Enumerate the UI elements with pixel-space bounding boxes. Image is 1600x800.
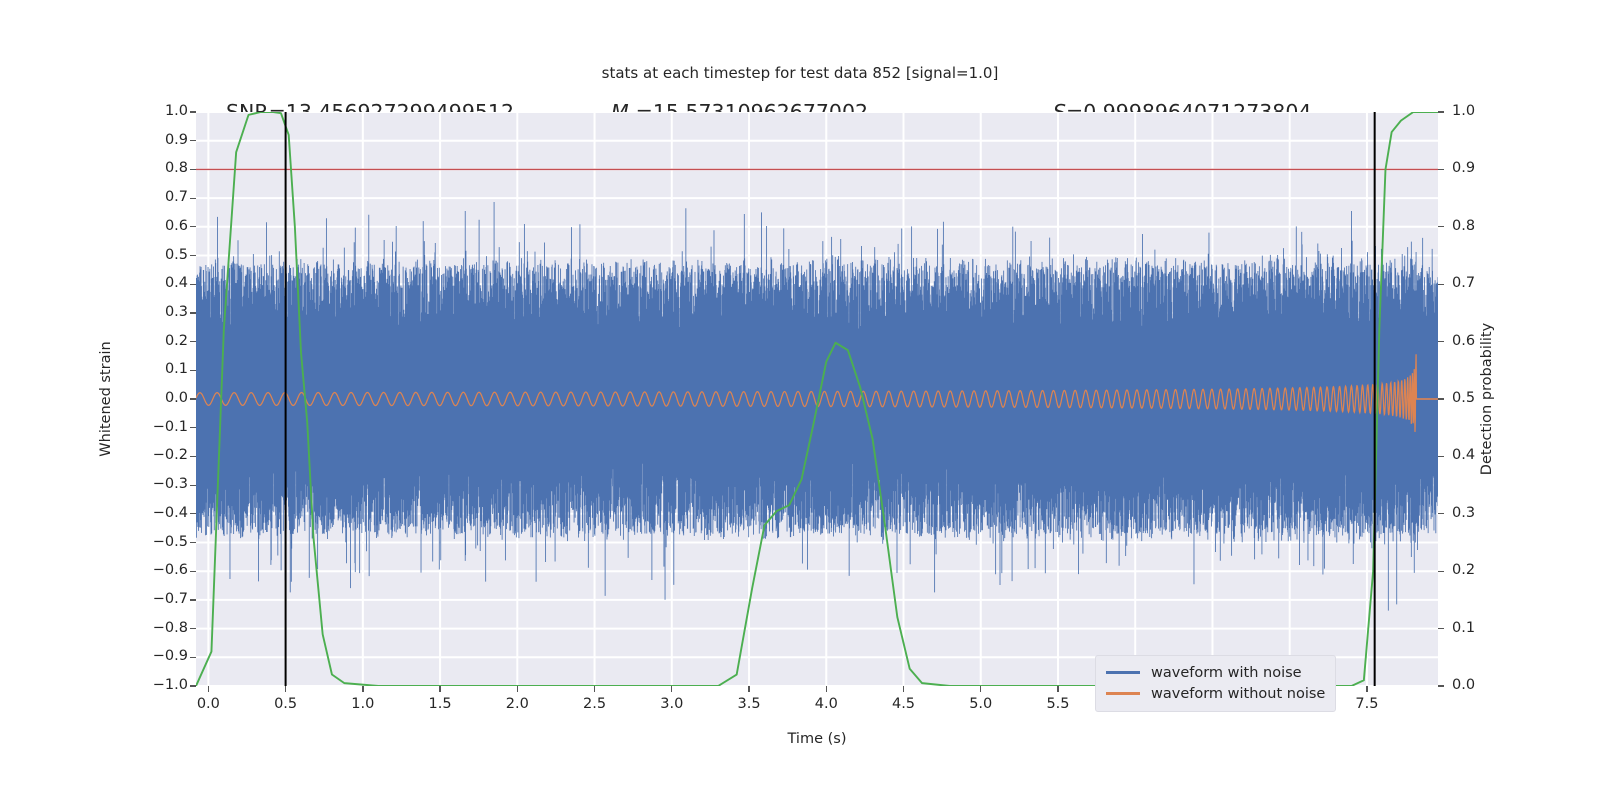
x-tick-5: 2.5 [565, 696, 625, 712]
y-tick-left-11: −0.1 [153, 419, 188, 435]
y-tick-left-9: 0.1 [165, 361, 188, 377]
legend-label-0: waveform with noise [1151, 665, 1302, 681]
y-tickmark-left-17 [190, 599, 196, 600]
x-tick-2: 1.0 [333, 696, 393, 712]
x-tick-11: 5.5 [1028, 696, 1088, 712]
x-tickmark-2 [362, 686, 363, 692]
x-tickmark-7 [748, 686, 749, 692]
y-tick-left-8: 0.2 [165, 333, 188, 349]
x-axis-label: Time (s) [788, 731, 847, 747]
x-tick-9: 4.5 [874, 696, 934, 712]
y-tick-left-0: 1.0 [165, 103, 188, 119]
y-tick-left-3: 0.7 [165, 189, 188, 205]
x-tickmark-9 [903, 686, 904, 692]
y-tick-right-4: 0.6 [1452, 333, 1475, 349]
y-tick-left-1: 0.9 [165, 132, 188, 148]
y-tickmark-left-12 [190, 456, 196, 457]
x-tick-4: 2.0 [487, 696, 547, 712]
y-tick-right-6: 0.4 [1452, 447, 1475, 463]
x-tickmark-8 [826, 686, 827, 692]
y-tickmark-left-18 [190, 628, 196, 629]
y-tickmark-left-10 [190, 398, 196, 399]
y-tickmark-right-2 [1438, 226, 1444, 227]
y-tickmark-left-0 [190, 111, 196, 112]
y-tick-left-6: 0.4 [165, 275, 188, 291]
x-tickmark-3 [439, 686, 440, 692]
y-tickmark-left-13 [190, 485, 196, 486]
y-tickmark-left-11 [190, 427, 196, 428]
y-tickmark-right-1 [1438, 169, 1444, 170]
y-tick-left-4: 0.6 [165, 218, 188, 234]
legend-item-1: waveform without noise [1106, 683, 1325, 704]
y-tickmark-left-5 [190, 255, 196, 256]
y-tickmark-right-8 [1438, 571, 1444, 572]
y-tickmark-left-16 [190, 571, 196, 572]
y-axis-label-left: Whitened strain [98, 341, 114, 456]
x-tick-7: 3.5 [719, 696, 779, 712]
y-tickmark-left-1 [190, 140, 196, 141]
y-tick-right-3: 0.7 [1452, 275, 1475, 291]
data-layer [196, 112, 1438, 686]
x-tick-6: 3.0 [642, 696, 702, 712]
x-tickmark-0 [208, 686, 209, 692]
y-tickmark-right-0 [1438, 111, 1444, 112]
y-tickmark-left-4 [190, 226, 196, 227]
y-tickmark-left-15 [190, 542, 196, 543]
y-tick-right-7: 0.3 [1452, 505, 1475, 521]
y-tickmark-left-3 [190, 198, 196, 199]
y-tickmark-right-7 [1438, 513, 1444, 514]
y-tick-right-10: 0.0 [1452, 677, 1475, 693]
y-tick-left-19: −0.9 [153, 648, 188, 664]
chart-title: stats at each timestep for test data 852… [0, 64, 1600, 82]
x-tickmark-6 [671, 686, 672, 692]
y-tickmark-left-2 [190, 169, 196, 170]
x-tick-10: 5.0 [951, 696, 1011, 712]
y-tick-right-1: 0.9 [1452, 160, 1475, 176]
y-tick-left-5: 0.5 [165, 247, 188, 263]
y-tick-left-12: −0.2 [153, 447, 188, 463]
x-tickmark-11 [1057, 686, 1058, 692]
y-tick-left-15: −0.5 [153, 534, 188, 550]
legend-swatch-0 [1106, 671, 1140, 673]
y-tick-right-8: 0.2 [1452, 562, 1475, 578]
y-tickmark-left-20 [190, 685, 196, 686]
y-tick-left-2: 0.8 [165, 160, 188, 176]
y-tick-right-5: 0.5 [1452, 390, 1475, 406]
y-tickmark-left-14 [190, 513, 196, 514]
y-tick-left-17: −0.7 [153, 591, 188, 607]
x-tick-15: 7.5 [1337, 696, 1397, 712]
y-tickmark-right-5 [1438, 398, 1444, 399]
y-tick-left-18: −0.8 [153, 620, 188, 636]
x-tick-3: 1.5 [410, 696, 470, 712]
legend: waveform with noisewaveform without nois… [1095, 655, 1336, 712]
y-tickmark-left-9 [190, 370, 196, 371]
x-tick-1: 0.5 [256, 696, 316, 712]
legend-label-1: waveform without noise [1151, 686, 1325, 702]
y-tickmark-right-9 [1438, 628, 1444, 629]
y-tick-left-7: 0.3 [165, 304, 188, 320]
y-tick-left-10: 0.0 [165, 390, 188, 406]
x-tickmark-4 [517, 686, 518, 692]
legend-swatch-1 [1106, 692, 1140, 694]
x-tick-0: 0.0 [178, 696, 238, 712]
y-tickmark-right-4 [1438, 341, 1444, 342]
x-tickmark-5 [594, 686, 595, 692]
x-tickmark-15 [1366, 686, 1367, 692]
y-tick-left-14: −0.4 [153, 505, 188, 521]
y-tickmark-right-6 [1438, 456, 1444, 457]
y-tick-left-13: −0.3 [153, 476, 188, 492]
y-tickmark-right-10 [1438, 685, 1444, 686]
y-tick-right-9: 0.1 [1452, 620, 1475, 636]
y-tick-left-16: −0.6 [153, 562, 188, 578]
y-axis-label-right: Detection probability [1479, 323, 1495, 475]
y-tickmark-right-3 [1438, 284, 1444, 285]
y-tickmark-left-6 [190, 284, 196, 285]
y-tickmark-left-8 [190, 341, 196, 342]
y-tickmark-left-19 [190, 657, 196, 658]
y-tick-right-2: 0.8 [1452, 218, 1475, 234]
y-tick-left-20: −1.0 [153, 677, 188, 693]
legend-item-0: waveform with noise [1106, 662, 1325, 683]
plot-area [196, 112, 1438, 686]
x-tickmark-1 [285, 686, 286, 692]
y-tick-right-0: 1.0 [1452, 103, 1475, 119]
y-tickmark-left-7 [190, 312, 196, 313]
x-tickmark-10 [980, 686, 981, 692]
x-tick-8: 4.0 [796, 696, 856, 712]
